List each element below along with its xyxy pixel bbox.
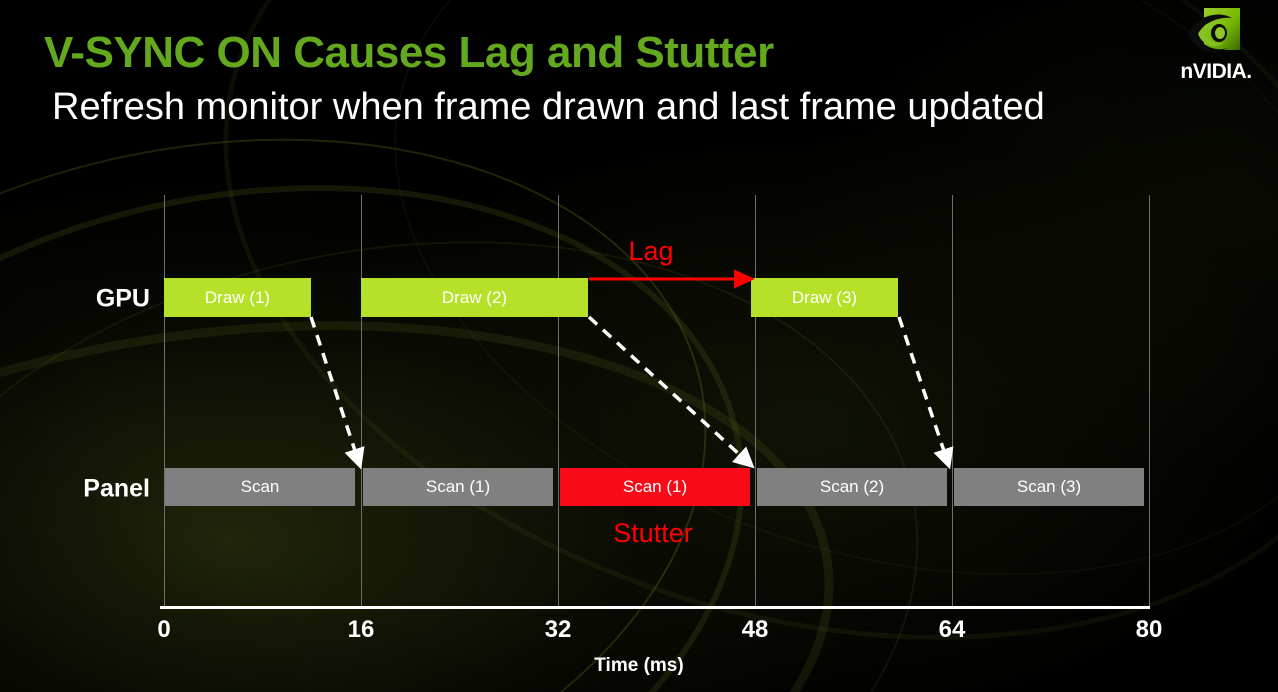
x-tick-0: 0	[157, 616, 170, 644]
timeline-chart: GPU Panel Draw (1) Draw (2) Draw (3) Sca…	[0, 0, 1278, 692]
x-tick-80: 80	[1136, 616, 1163, 644]
lag-label: Lag	[628, 236, 673, 267]
x-tick-48: 48	[742, 616, 769, 644]
x-tick-64: 64	[939, 616, 966, 644]
x-axis-title: Time (ms)	[0, 655, 1278, 677]
x-tick-16: 16	[348, 616, 375, 644]
x-tick-32: 32	[545, 616, 572, 644]
lag-arrow	[0, 0, 1278, 692]
x-axis-line	[160, 606, 1150, 609]
slide-canvas: V-SYNC ON Causes Lag and Stutter Refresh…	[0, 0, 1278, 692]
stutter-label: Stutter	[613, 518, 693, 549]
